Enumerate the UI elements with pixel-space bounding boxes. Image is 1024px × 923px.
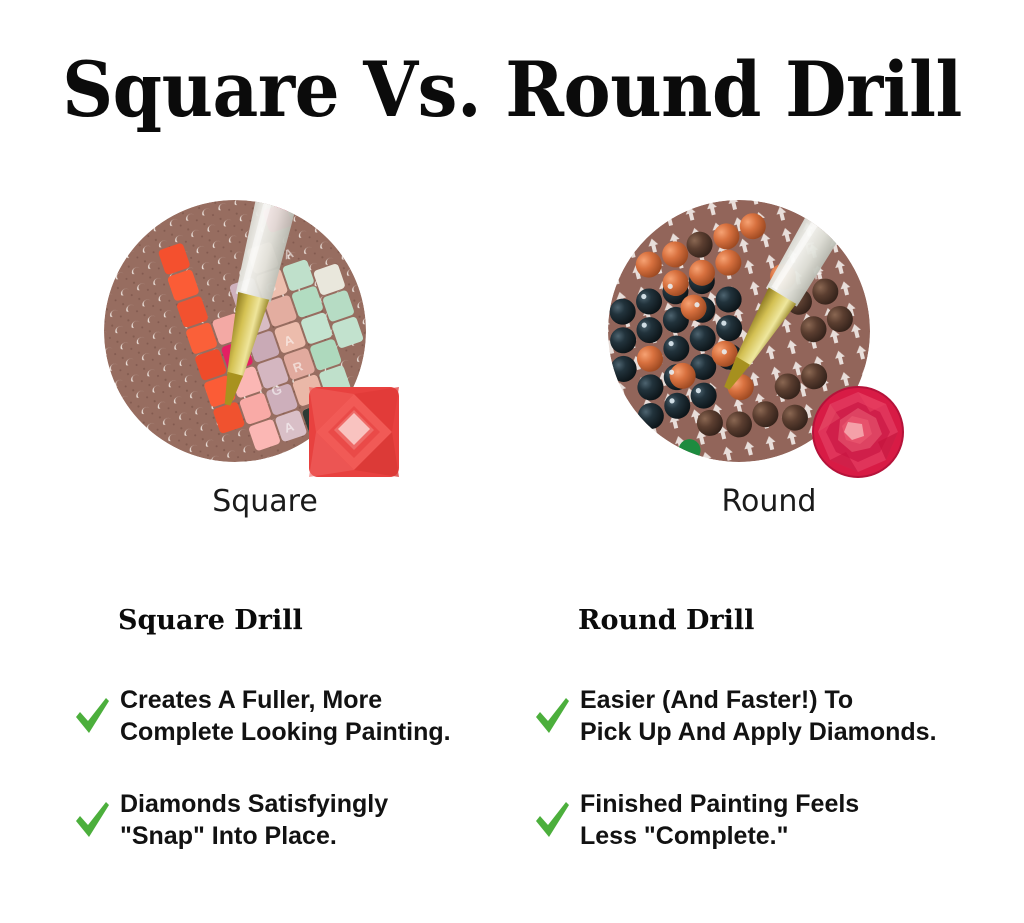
check-icon: [72, 798, 112, 842]
list-item-label: Easier (And Faster!) To Pick Up And Appl…: [580, 684, 937, 748]
list-item-label: Finished Painting Feels Less "Complete.": [580, 788, 859, 852]
round-gem-icon: [812, 386, 904, 478]
square-photo-panel: G A R A G A: [100, 196, 430, 496]
square-drill-benefits: Creates A Fuller, More Complete Looking …: [118, 684, 538, 852]
round-photo-caption: Round: [604, 483, 934, 521]
round-drill-column: Round Drill Easier (And Faster!) To Pick…: [578, 604, 998, 852]
round-drill-benefits: Easier (And Faster!) To Pick Up And Appl…: [578, 684, 998, 852]
check-icon: [72, 694, 112, 738]
square-drill-column: Square Drill Creates A Fuller, More Comp…: [118, 604, 538, 852]
list-item: Diamonds Satisfyingly "Snap" Into Place.: [118, 788, 538, 852]
list-item-label: Creates A Fuller, More Complete Looking …: [120, 684, 451, 748]
list-item: Finished Painting Feels Less "Complete.": [578, 788, 998, 852]
check-icon: [532, 798, 572, 842]
list-item-label: Diamonds Satisfyingly "Snap" Into Place.: [120, 788, 388, 852]
square-gem-icon: [308, 386, 400, 478]
round-photo-panel: E F: [604, 196, 934, 496]
page-title: Square Vs. Round Drill: [36, 46, 988, 134]
square-photo-caption: Square: [100, 483, 430, 521]
round-drill-heading: Round Drill: [578, 604, 998, 638]
list-item: Easier (And Faster!) To Pick Up And Appl…: [578, 684, 998, 748]
list-item: Creates A Fuller, More Complete Looking …: [118, 684, 538, 748]
comparison-photos: G A R A G A: [0, 196, 1024, 496]
square-drill-heading: Square Drill: [118, 604, 538, 638]
check-icon: [532, 694, 572, 738]
